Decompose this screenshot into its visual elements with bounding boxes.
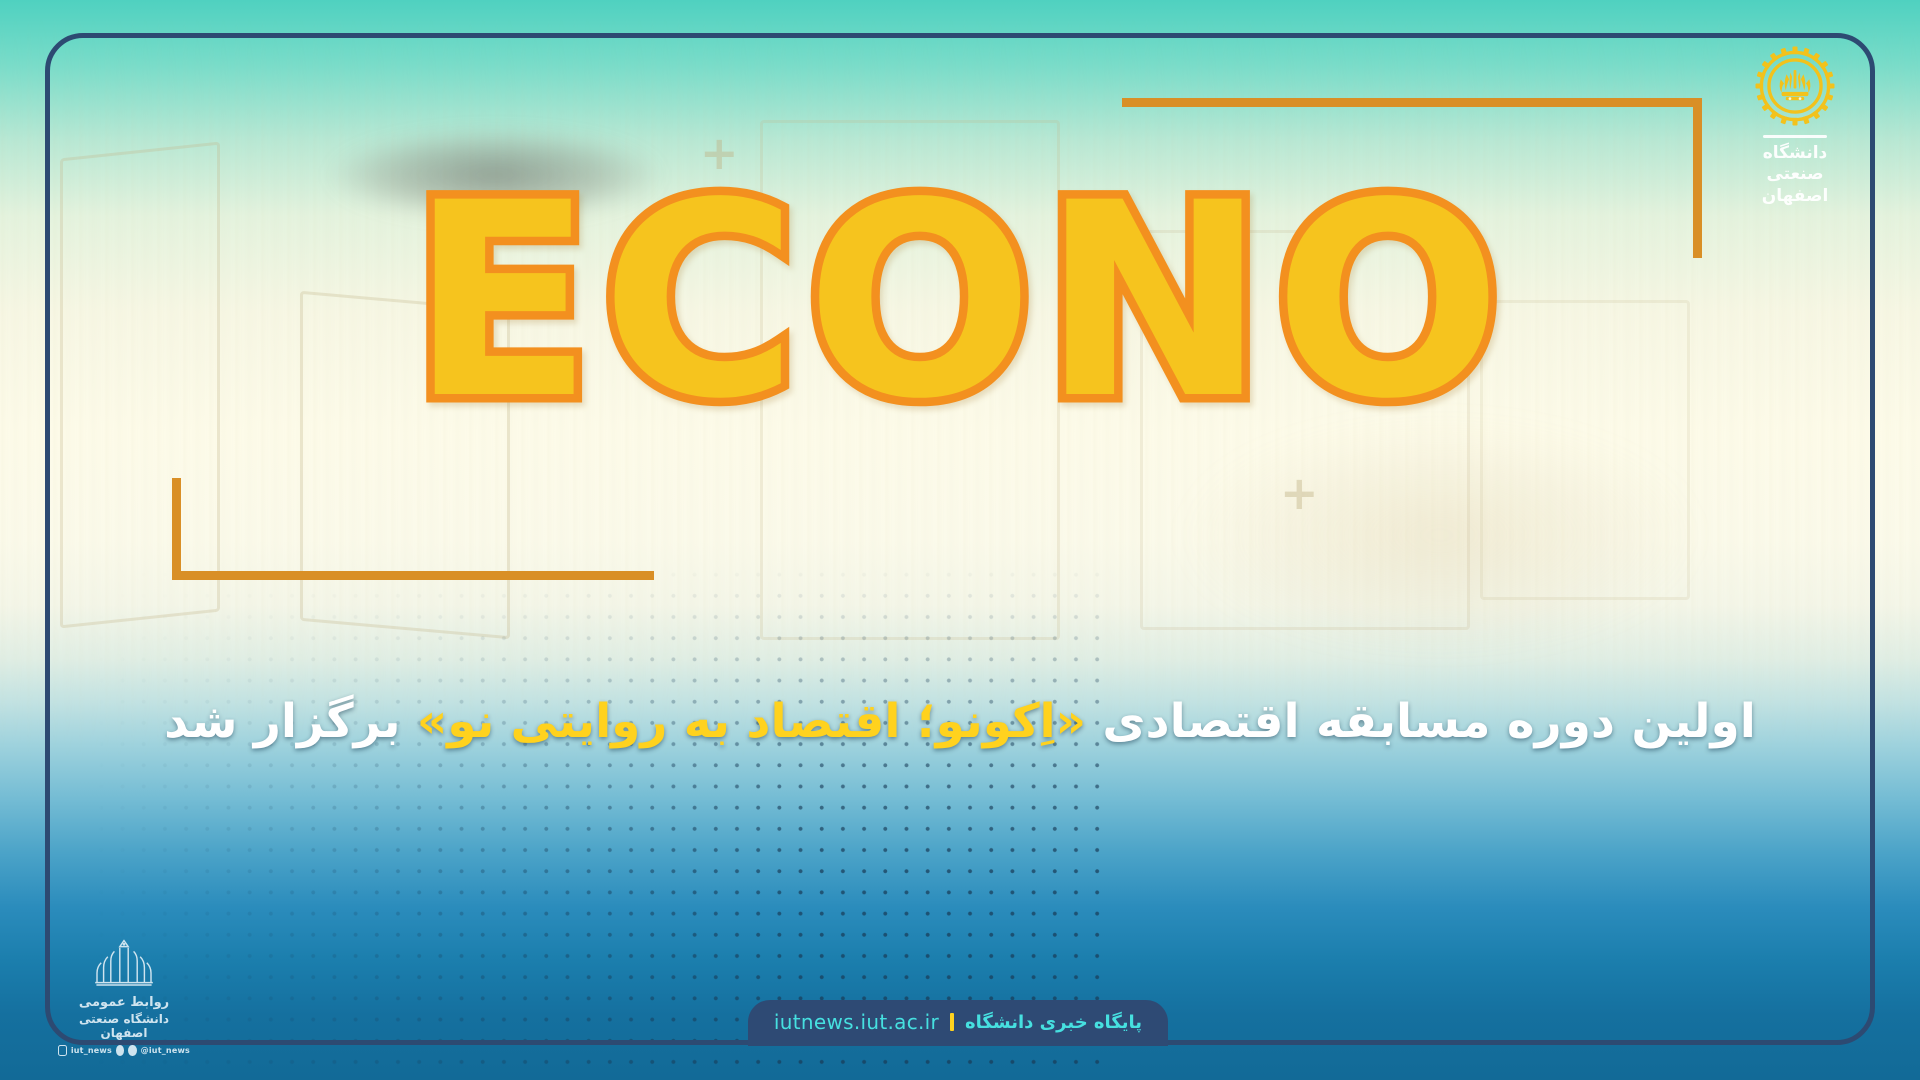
logo-divider — [1763, 135, 1827, 138]
news-site-label: پایگاه خبری دانشگاه — [965, 1012, 1142, 1033]
university-logo: دانشگاه صنعتی اصفهان — [1734, 38, 1856, 207]
poster-canvas: + + ECONO اولین دوره مسابقه اقتصادی «اِک… — [0, 0, 1920, 1080]
background-smudge — [330, 130, 660, 220]
news-site-url-bar[interactable]: iutnews.iut.ac.ir پایگاه خبری دانشگاه — [748, 1000, 1168, 1046]
plus-icon: + — [700, 130, 739, 176]
headline-lead: اولین دوره مسابقه اقتصادی — [1086, 694, 1756, 749]
page-title: اولین دوره مسابقه اقتصادی «اِکونو؛ اقتصا… — [60, 688, 1860, 756]
whatsapp-icon[interactable] — [128, 1045, 136, 1056]
ghost-shape — [1140, 230, 1470, 630]
iut-building-emblem-icon — [88, 938, 160, 990]
instagram-icon[interactable] — [58, 1045, 67, 1056]
pr-logo-line1: روابط عمومی — [58, 995, 190, 1010]
university-logo-line2: صنعتی — [1734, 164, 1856, 185]
pr-logo-line2: دانشگاه صنعتی اصفهان — [58, 1012, 190, 1040]
bracket-top-right — [1122, 98, 1702, 258]
headline-quoted-title: «اِکونو؛ اقتصاد به روایتی نو» — [417, 694, 1086, 749]
news-site-url[interactable]: iutnews.iut.ac.ir — [774, 1010, 939, 1034]
university-logo-line3: اصفهان — [1734, 186, 1856, 207]
ghost-shape — [1480, 300, 1690, 600]
telegram-handle[interactable]: @iut_news — [141, 1046, 190, 1055]
telegram-icon[interactable] — [116, 1045, 124, 1056]
headline-tail: برگزار شد — [164, 694, 417, 749]
plus-icon: + — [1280, 470, 1319, 516]
divider-icon — [950, 1013, 954, 1031]
bracket-bottom-left — [172, 478, 654, 580]
university-logo-line1: دانشگاه — [1734, 143, 1856, 164]
iut-gear-seal-icon — [1753, 44, 1837, 128]
instagram-handle[interactable]: iut_news — [71, 1046, 112, 1055]
public-relations-logo: روابط عمومی دانشگاه صنعتی اصفهان iut_new… — [58, 938, 190, 1056]
social-links[interactable]: iut_news @iut_news — [58, 1045, 190, 1056]
